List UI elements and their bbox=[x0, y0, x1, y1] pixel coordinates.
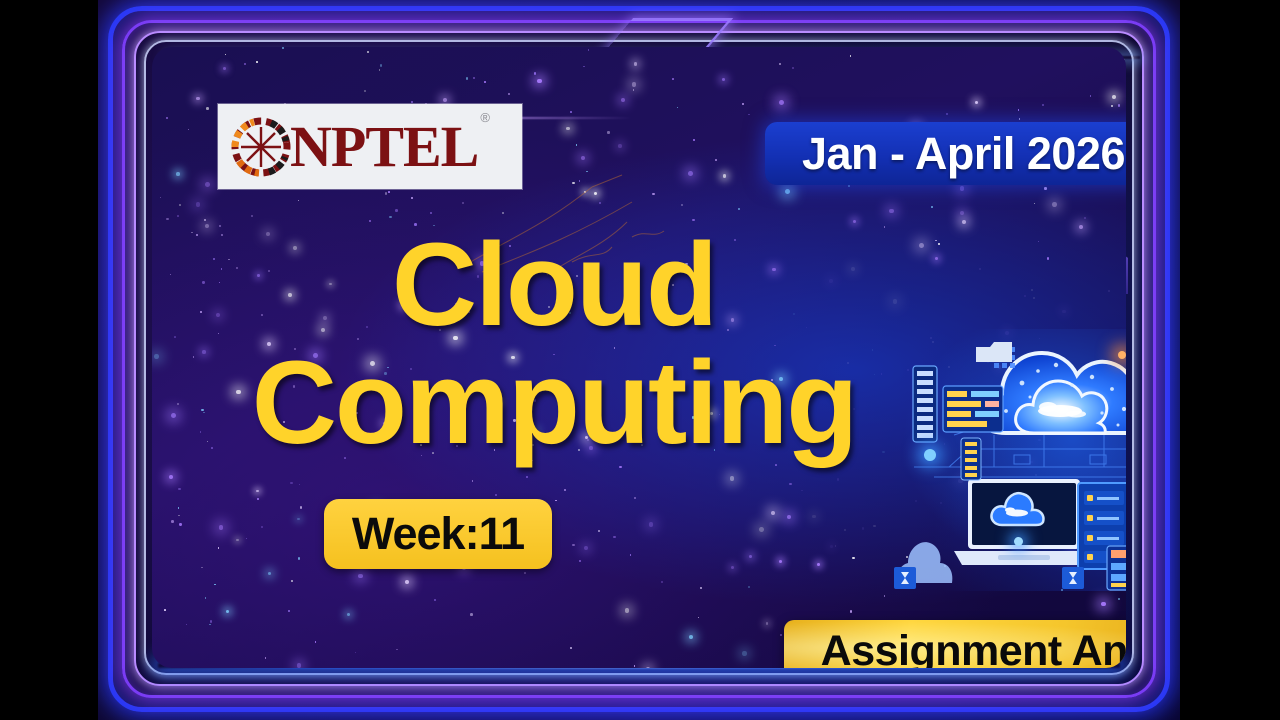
letterbox-bar-left bbox=[0, 0, 98, 720]
code-panel-icon bbox=[942, 385, 1004, 433]
glow-dot-orange-decoration bbox=[1118, 351, 1126, 359]
hourglass-tile-icon bbox=[894, 567, 916, 589]
session-badge-label: Jan - April 2026 bbox=[802, 128, 1125, 180]
nptel-wordmark: NPTEL bbox=[290, 118, 478, 176]
assignment-answers-label: Assignment Answers bbox=[821, 627, 1126, 669]
page-title: Cloud Computing bbox=[244, 231, 864, 458]
table-panel-icon bbox=[1106, 545, 1126, 591]
week-badge: Week:11 bbox=[324, 499, 552, 569]
session-badge: Jan - April 2026 bbox=[765, 122, 1126, 185]
glow-dot-decoration bbox=[1014, 537, 1023, 546]
week-badge-label: Week:11 bbox=[352, 508, 524, 560]
thumbnail-canvas: C bbox=[98, 0, 1180, 720]
title-line-2: Computing bbox=[244, 349, 864, 459]
title-line-1: Cloud bbox=[244, 231, 864, 341]
nptel-logo: NPTEL ® bbox=[218, 104, 522, 189]
starfield-panel: C bbox=[152, 47, 1126, 668]
hourglass-tile-2-icon bbox=[1062, 567, 1084, 589]
slider-list-icon bbox=[912, 365, 938, 443]
folder-icon bbox=[974, 339, 1014, 365]
cloud-computing-illustration: C bbox=[894, 329, 1126, 591]
assignment-answers-banner: Assignment Answers bbox=[784, 620, 1126, 668]
nptel-star-icon bbox=[228, 114, 294, 180]
registered-trademark-icon: ® bbox=[480, 110, 490, 125]
video-thumbnail: C bbox=[0, 0, 1280, 720]
letterbox-bar-right bbox=[1180, 0, 1280, 720]
mini-bars-icon bbox=[960, 437, 982, 481]
glow-dot-decoration bbox=[924, 449, 936, 461]
